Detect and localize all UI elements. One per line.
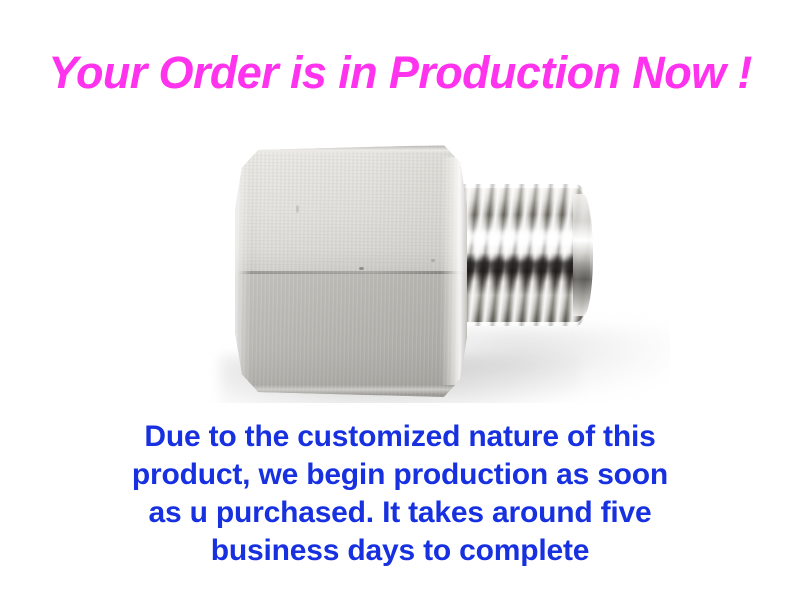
surface-nick — [296, 205, 299, 213]
hex-machining-lines — [241, 153, 453, 265]
hex-bottom-edge — [247, 385, 455, 395]
body-copy-line-2: product, we begin production as soon — [0, 456, 800, 494]
surface-nick — [431, 259, 435, 262]
body-copy-line-1: Due to the customized nature of this — [0, 418, 800, 456]
surface-nick — [359, 267, 364, 270]
thread-highlight-band — [455, 228, 590, 248]
body-copy-line-4: business days to complete — [0, 532, 800, 570]
hex-body-silhouette — [235, 145, 467, 397]
page-title: Your Order is in Production Now ! — [0, 46, 800, 100]
threaded-nipple — [455, 184, 595, 326]
hex-body — [235, 145, 475, 400]
hex-chamfer-right — [441, 157, 467, 385]
body-copy-line-3: as u purchased. It takes around five — [0, 494, 800, 532]
thread-ridges-detail — [455, 184, 590, 326]
product-photo — [150, 118, 670, 403]
thread-end-face — [573, 194, 593, 316]
body-copy: Due to the customized nature of this pro… — [0, 418, 800, 570]
product-drop-shadow-2 — [450, 328, 670, 398]
promo-banner: Your Order is in Production Now ! — [0, 0, 800, 600]
thread-shadow-band — [457, 256, 585, 276]
hex-top-edge — [245, 146, 457, 153]
hex-chamfer-left — [235, 159, 251, 383]
